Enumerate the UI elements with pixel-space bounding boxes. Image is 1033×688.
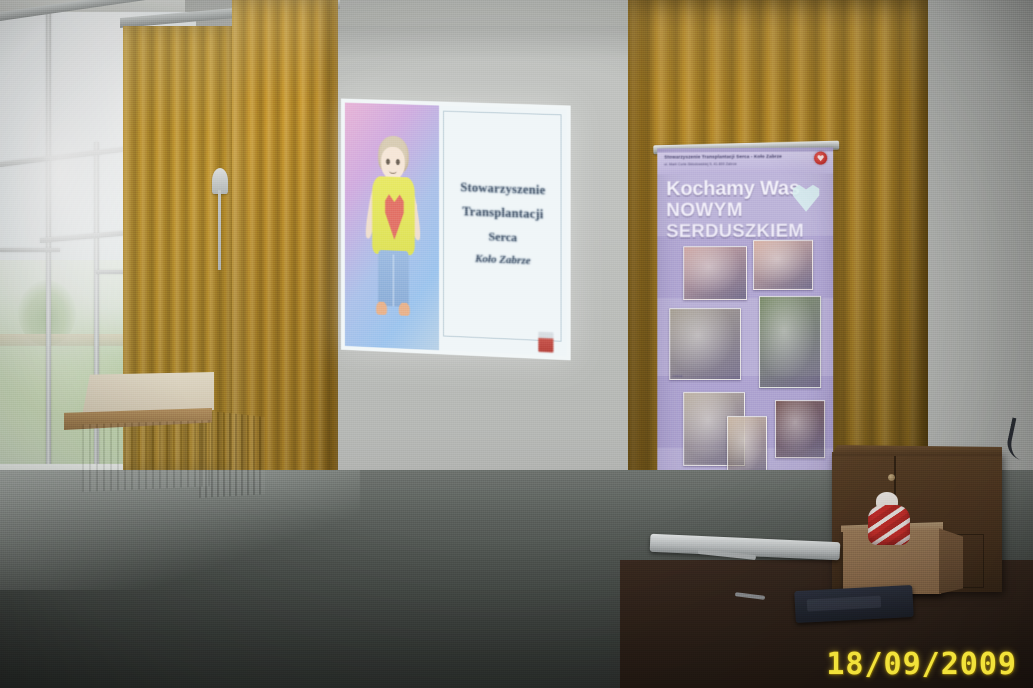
cartoon-child-icon: [364, 135, 423, 323]
slide-text-panel: Stowarzyszenie Transplantacji Serca Koło…: [439, 106, 566, 357]
slide-line-4: Koło Zabrze: [475, 253, 531, 268]
banner-organisation-name: Stowarzyszenie Transplantacji Serca - Ko…: [664, 154, 792, 160]
banner-headline-1: Kochamy Was: [666, 178, 800, 202]
slide-line-1: Stowarzyszenie: [460, 180, 545, 197]
window-transom: [0, 248, 60, 252]
photo-children-group: Oddział: [669, 308, 741, 380]
cabinet-knob-icon: [888, 474, 895, 481]
photo-infant-pink: [753, 240, 813, 290]
window-mullion: [46, 12, 51, 480]
photo-baby-with-mother: [683, 246, 747, 300]
banner-headline-2: NOWYM: [666, 200, 743, 222]
slide-line-2: Transplantacji: [462, 205, 543, 222]
photo-girl-portrait: [775, 400, 825, 458]
photo-caption: Oddział: [672, 374, 682, 378]
black-equipment-case: [794, 585, 914, 623]
projected-presentation-slide: Stowarzyszenie Transplantacji Serca Koło…: [341, 99, 571, 361]
slide-line-3: Serca: [489, 230, 518, 245]
slide-logo-icon: [538, 332, 553, 353]
heart-logo-icon: [814, 152, 827, 165]
banner-organisation-address: ul. Marii Curie-Skłodowskiej 9, 41-800 Z…: [664, 161, 784, 166]
wooden-podium: [64, 372, 216, 490]
camera-datestamp: 18/09/2009: [826, 647, 1017, 682]
speaker-cable: [218, 190, 221, 270]
photograph-canvas: Stowarzyszenie Transplantacji Serca Koło…: [0, 0, 1033, 688]
slide-illustration-panel: [345, 103, 440, 351]
red-white-mascot-figure: [868, 492, 910, 544]
photo-boy-red-jacket: [759, 296, 821, 388]
outdoor-tree: [18, 280, 76, 346]
